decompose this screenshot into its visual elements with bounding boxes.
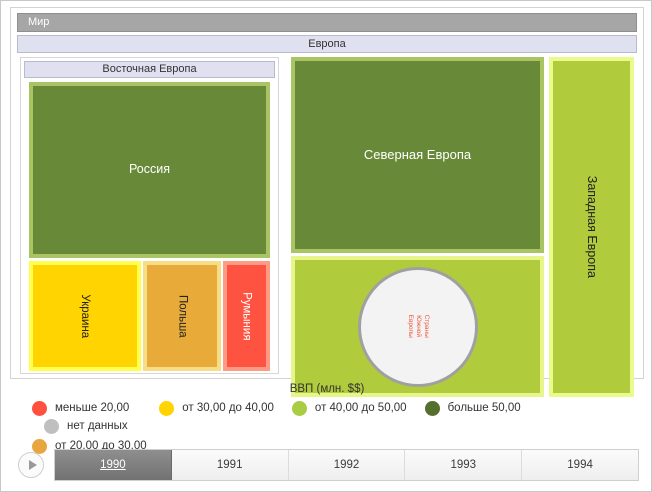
- eastern-europe-panel[interactable]: Восточная Европа Россия Украина Польша: [20, 57, 279, 374]
- timeline-year-1993[interactable]: 1993: [405, 450, 522, 480]
- bubble-label-line-1: Страны: [422, 315, 430, 338]
- legend-title: ВВП (млн. $$): [10, 383, 644, 395]
- treemap-cell-northern-europe[interactable]: Северная Европа: [291, 57, 544, 253]
- treemap-cell-southern-europe[interactable]: Страны Южной Европы: [291, 256, 544, 397]
- legend-swatch-icon: [292, 401, 307, 416]
- legend-swatch-icon: [159, 401, 174, 416]
- bubble-label-line-3: Европы: [405, 315, 413, 338]
- treemap-cell-fill: Румыния: [227, 265, 266, 367]
- legend-swatch-icon: [44, 419, 59, 434]
- timeline-year-1991[interactable]: 1991: [172, 450, 289, 480]
- world-panel[interactable]: Мир Европа Восточная Европа Россия Украи…: [10, 7, 644, 379]
- legend-item-label: нет данных: [67, 420, 128, 432]
- legend-items: меньше 20,00 от 30,00 до 40,00 от 40,00 …: [10, 399, 644, 455]
- play-icon[interactable]: [18, 452, 44, 478]
- timeline-year-track[interactable]: 1990 1991 1992 1993 1994: [54, 449, 639, 481]
- timeline: 1990 1991 1992 1993 1994: [10, 449, 644, 485]
- treemap-cell-ukraine[interactable]: Украина: [29, 261, 141, 371]
- legend-item[interactable]: нет данных: [44, 417, 128, 435]
- timeline-year-1990[interactable]: 1990: [55, 450, 172, 480]
- treemap-cell-russia[interactable]: Россия: [29, 82, 270, 258]
- legend-swatch-icon: [425, 401, 440, 416]
- treemap-cell-label: Украина: [79, 294, 92, 338]
- legend: ВВП (млн. $$) меньше 20,00 от 30,00 до 4…: [10, 383, 644, 441]
- treemap-cell-label: Польша: [176, 295, 189, 338]
- legend-swatch-icon: [32, 401, 47, 416]
- timeline-year-1992[interactable]: 1992: [289, 450, 406, 480]
- treemap-cell-label: Северная Европа: [364, 148, 471, 162]
- timeline-year-1994[interactable]: 1994: [522, 450, 638, 480]
- bubble-label-line-2: Южной: [413, 315, 421, 338]
- treemap-cell-fill: Польша: [147, 265, 217, 367]
- legend-item-label: от 40,00 до 50,00: [315, 402, 407, 414]
- treemap-cell-fill: Россия: [33, 86, 266, 254]
- play-triangle-icon: [29, 460, 37, 470]
- eastern-europe-header-label[interactable]: Восточная Европа: [24, 61, 275, 78]
- treemap-cell-label: Румыния: [240, 292, 253, 340]
- southern-europe-bubble[interactable]: Страны Южной Европы: [358, 267, 478, 387]
- legend-item[interactable]: меньше 20,00: [32, 399, 129, 417]
- legend-item-label: больше 50,00: [448, 402, 521, 414]
- world-header-label[interactable]: Мир: [17, 13, 637, 32]
- treemap-app: Мир Европа Восточная Европа Россия Украи…: [0, 0, 652, 492]
- southern-europe-bubble-label: Страны Южной Европы: [405, 315, 429, 338]
- legend-item-label: от 30,00 до 40,00: [182, 402, 274, 414]
- treemap-cell-romania[interactable]: Румыния: [223, 261, 270, 371]
- treemap-cell-fill: Украина: [33, 265, 137, 367]
- legend-item-label: меньше 20,00: [55, 402, 129, 414]
- treemap-cell-label: Западная Европа: [585, 176, 599, 278]
- legend-item[interactable]: от 30,00 до 40,00: [159, 399, 274, 417]
- treemap-cell-fill: Западная Европа: [553, 61, 630, 393]
- treemap-cell-label: Россия: [129, 163, 170, 177]
- treemap-cell-western-europe[interactable]: Западная Европа: [549, 57, 634, 397]
- treemap-cell-fill: Северная Европа: [295, 61, 540, 249]
- legend-item[interactable]: от 40,00 до 50,00: [292, 399, 407, 417]
- legend-item[interactable]: больше 50,00: [425, 399, 521, 417]
- europe-panel[interactable]: Европа Восточная Европа Россия Украина: [17, 35, 637, 378]
- treemap-cell-fill: Страны Южной Европы: [295, 260, 540, 393]
- europe-header-label[interactable]: Европа: [17, 35, 637, 53]
- treemap-cell-poland[interactable]: Польша: [143, 261, 221, 371]
